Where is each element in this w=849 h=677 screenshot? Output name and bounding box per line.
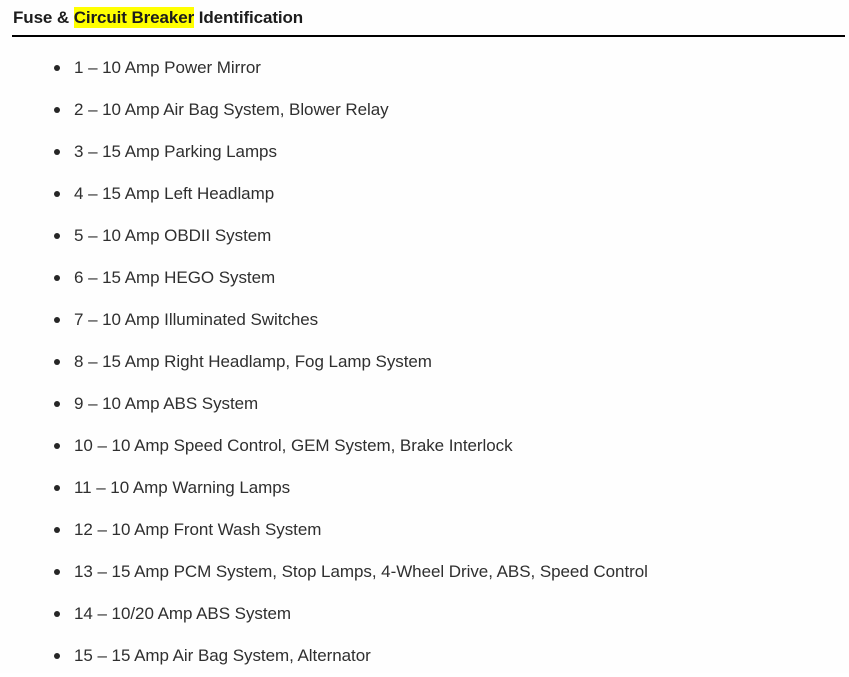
list-item: 14 – 10/20 Amp ABS System [0,593,849,635]
list-item-label: 7 – 10 Amp Illuminated Switches [74,310,318,329]
list-item-label: 11 – 10 Amp Warning Lamps [74,478,290,497]
bullet-icon [54,191,60,197]
list-item: 5 – 10 Amp OBDII System [0,215,849,257]
list-item: 13 – 15 Amp PCM System, Stop Lamps, 4-Wh… [0,551,849,593]
bullet-icon [54,485,60,491]
list-item-label: 2 – 10 Amp Air Bag System, Blower Relay [74,100,389,119]
list-item-label: 6 – 15 Amp HEGO System [74,268,275,287]
list-item-label: 5 – 10 Amp OBDII System [74,226,271,245]
list-item-label: 3 – 15 Amp Parking Lamps [74,142,277,161]
bullet-icon [54,443,60,449]
page-title-highlighted-term: Circuit Breaker [74,7,194,28]
bullet-icon [54,317,60,323]
bullet-icon [54,149,60,155]
list-item: 6 – 15 Amp HEGO System [0,257,849,299]
bullet-icon [54,611,60,617]
list-item-label: 12 – 10 Amp Front Wash System [74,520,321,539]
list-item-label: 14 – 10/20 Amp ABS System [74,604,291,623]
list-item: 2 – 10 Amp Air Bag System, Blower Relay [0,89,849,131]
page-title: Fuse & Circuit Breaker Identification [13,8,303,28]
bullet-icon [54,359,60,365]
bullet-icon [54,653,60,659]
bullet-icon [54,527,60,533]
list-item: 15 – 15 Amp Air Bag System, Alternator [0,635,849,677]
list-item: 10 – 10 Amp Speed Control, GEM System, B… [0,425,849,467]
bullet-icon [54,65,60,71]
list-item: 1 – 10 Amp Power Mirror [0,47,849,89]
list-item-label: 1 – 10 Amp Power Mirror [74,58,261,77]
page-title-suffix: Identification [194,8,303,27]
fuse-list: 1 – 10 Amp Power Mirror 2 – 10 Amp Air B… [0,47,849,677]
page-title-prefix: Fuse & [13,8,74,27]
bullet-icon [54,401,60,407]
title-divider [12,35,845,37]
list-item-label: 4 – 15 Amp Left Headlamp [74,184,274,203]
list-item: 4 – 15 Amp Left Headlamp [0,173,849,215]
list-item: 9 – 10 Amp ABS System [0,383,849,425]
list-item-label: 13 – 15 Amp PCM System, Stop Lamps, 4-Wh… [74,562,648,581]
list-item: 8 – 15 Amp Right Headlamp, Fog Lamp Syst… [0,341,849,383]
list-item-label: 9 – 10 Amp ABS System [74,394,258,413]
list-item-label: 15 – 15 Amp Air Bag System, Alternator [74,646,371,665]
list-item: 7 – 10 Amp Illuminated Switches [0,299,849,341]
bullet-icon [54,275,60,281]
list-item-label: 10 – 10 Amp Speed Control, GEM System, B… [74,436,513,455]
list-item-label: 8 – 15 Amp Right Headlamp, Fog Lamp Syst… [74,352,432,371]
document-page: Fuse & Circuit Breaker Identification 1 … [0,0,849,673]
bullet-icon [54,569,60,575]
bullet-icon [54,107,60,113]
list-item: 3 – 15 Amp Parking Lamps [0,131,849,173]
list-item: 11 – 10 Amp Warning Lamps [0,467,849,509]
bullet-icon [54,233,60,239]
list-item: 12 – 10 Amp Front Wash System [0,509,849,551]
